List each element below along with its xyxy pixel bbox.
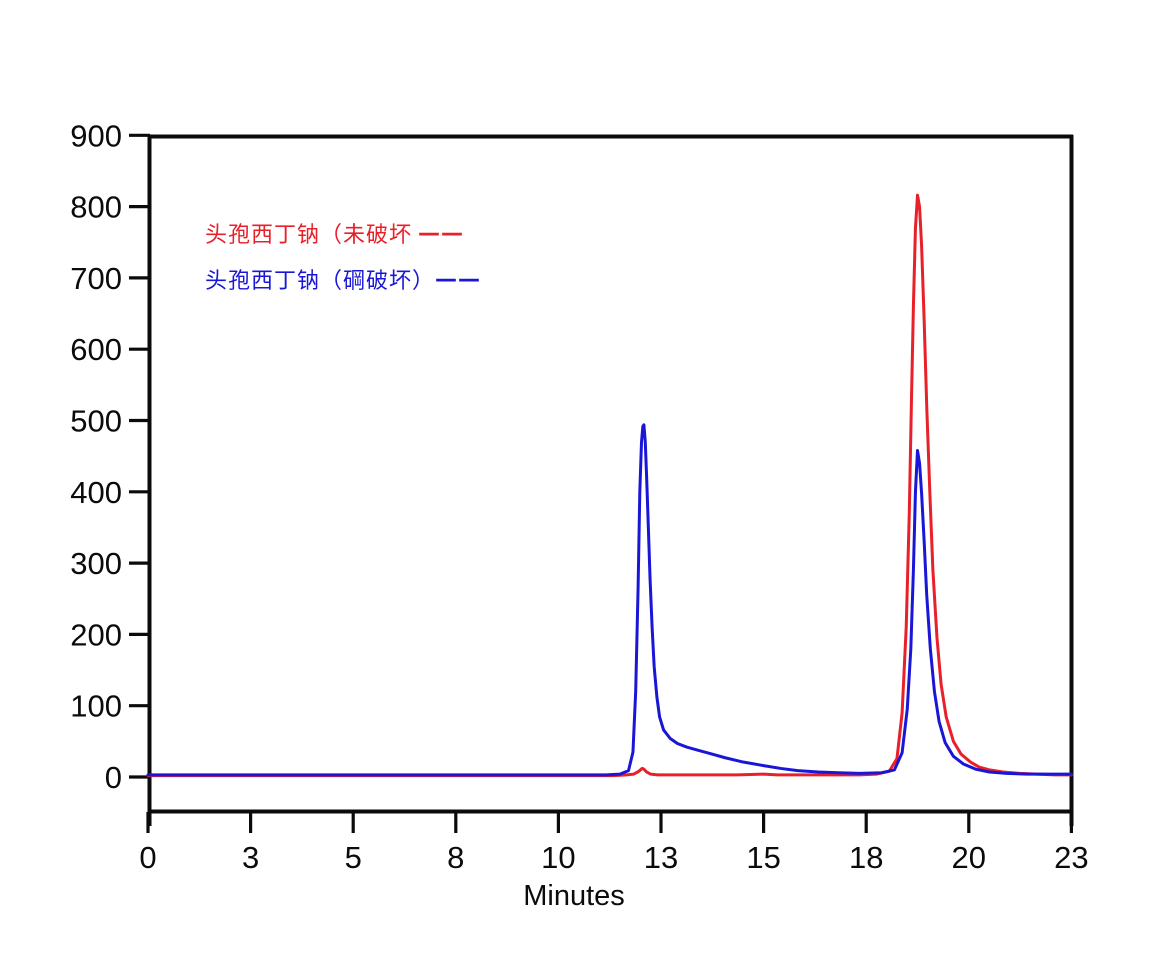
x-tick-label: 15 (746, 840, 780, 875)
y-tick-label: 100 (70, 689, 122, 724)
legend-label: 头孢西丁钠（未破坏 (205, 217, 412, 249)
x-axis-title: Minutes (523, 880, 625, 912)
legend-entry: 头孢西丁钠（碙破坏）—— (205, 263, 481, 295)
legend-line-sample: —— (435, 267, 481, 292)
x-tick-label: 0 (139, 840, 156, 875)
chart-legend: 头孢西丁钠（未破坏——头孢西丁钠（碙破坏）—— (205, 217, 481, 295)
y-tick-label: 800 (70, 190, 122, 225)
y-tick-label: 0 (105, 760, 122, 795)
x-tick-label: 8 (447, 840, 464, 875)
x-tick-label: 23 (1054, 840, 1088, 875)
y-axis-ticks: 0100200300400500600700800900 (70, 118, 150, 795)
x-tick-label: 20 (952, 840, 986, 875)
y-tick-label: 600 (70, 332, 122, 367)
y-tick-label: 200 (70, 617, 122, 652)
chart-canvas: 0100200300400500600700800900 03581013151… (0, 0, 1159, 980)
y-tick-label: 700 (70, 261, 122, 296)
chromatogram-chart: 0100200300400500600700800900 03581013151… (0, 0, 1159, 980)
legend-entry: 头孢西丁钠（未破坏—— (205, 217, 481, 249)
x-tick-label: 3 (242, 840, 259, 875)
x-tick-label: 18 (849, 840, 883, 875)
x-axis-ticks: 0358101315182023 (139, 812, 1088, 875)
legend-label: 头孢西丁钠（碙破坏） (205, 263, 435, 295)
legend-line-sample: —— (418, 221, 464, 246)
x-tick-label: 10 (541, 840, 575, 875)
x-tick-label: 5 (345, 840, 362, 875)
x-tick-label: 13 (644, 840, 678, 875)
y-tick-label: 300 (70, 546, 122, 581)
y-tick-label: 500 (70, 404, 122, 439)
y-tick-label: 400 (70, 475, 122, 510)
trace-line (148, 425, 1071, 775)
y-tick-label: 900 (70, 118, 122, 153)
